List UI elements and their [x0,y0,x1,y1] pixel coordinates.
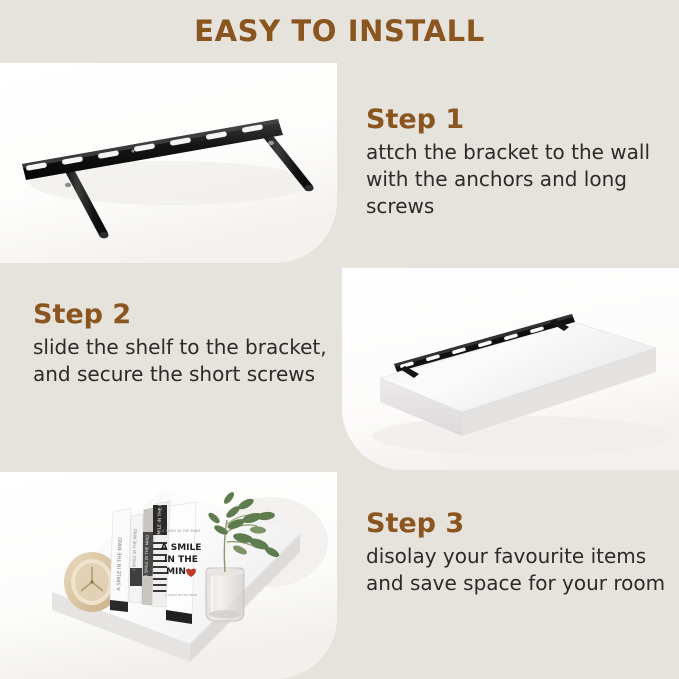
book-cover-line-3: MIN [166,567,186,577]
step-3-image: A SMILE IN THE MIND A SMILE IN THE MIND … [0,472,337,679]
svg-text:A SMILE IN THE MIND: A SMILE IN THE MIND [162,529,201,533]
book-cover-line-2: IN THE [164,555,198,565]
step-3-heading: Step 3 [366,508,671,539]
step-2-body: slide the shelf to the bracket, and secu… [33,334,333,388]
svg-text:A SMILE IN THE MIND: A SMILE IN THE MIND [165,593,198,597]
book-cover-line-1: A SMILE [161,543,202,553]
glass-vase [206,568,244,621]
step-1-image [0,63,337,263]
step-2-image [342,268,679,470]
step-1-block: Step 1 attch the bracket to the wall wit… [366,104,666,219]
step-2-block: Step 2 slide the shelf to the bracket, a… [33,299,333,388]
book-spine-2: A SMILE IN THE MIND [129,514,143,603]
step-1-heading: Step 1 [366,104,666,135]
book-spine-1: A SMILE IN THE MIND [110,508,131,612]
step-1-body: attch the bracket to the wall with the a… [366,139,666,219]
book-stack: A SMILE IN THE MIND A SMILE IN THE MIND … [110,493,201,624]
infographic-page: EASY TO INSTALL [0,0,679,679]
page-title: EASY TO INSTALL [0,14,679,48]
step-3-body: disolay your favourite items and save sp… [366,543,671,597]
step-2-heading: Step 2 [33,299,333,330]
step-3-block: Step 3 disolay your favourite items and … [366,508,671,597]
